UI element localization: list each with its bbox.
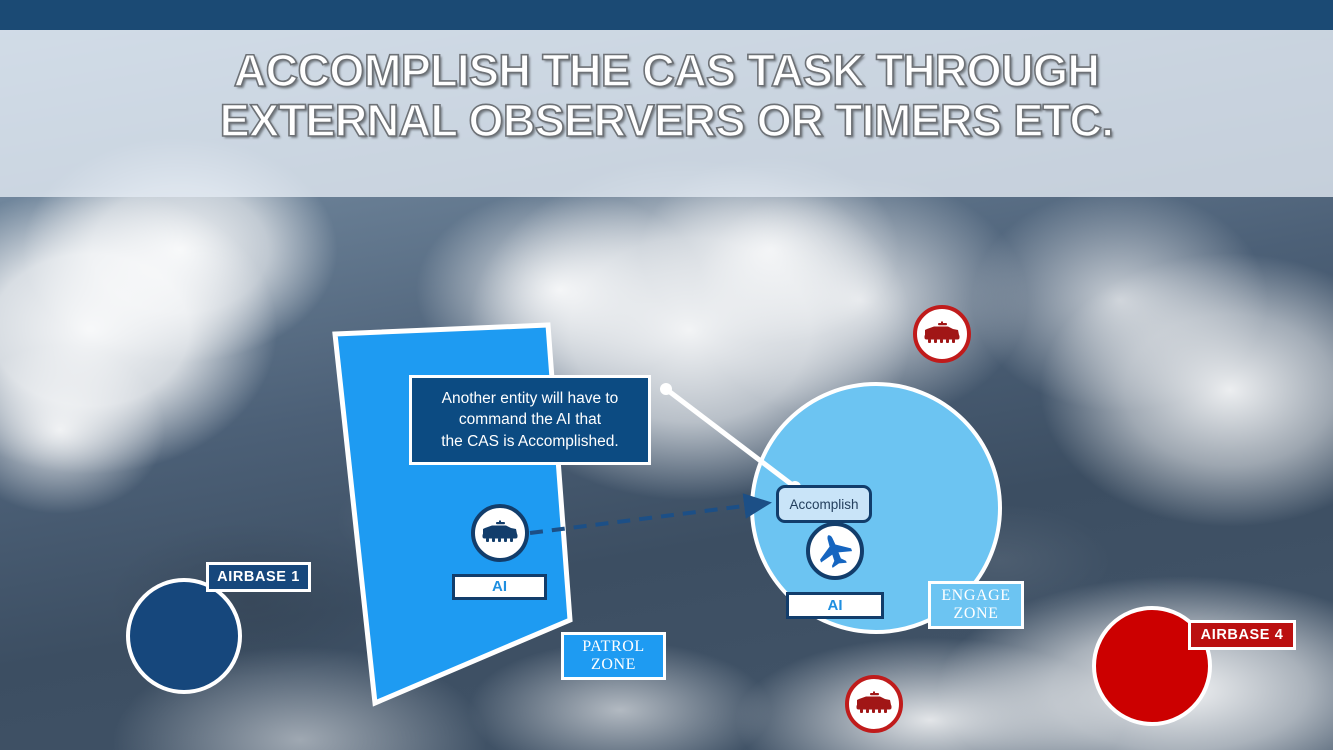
airbase-1-marker[interactable] xyxy=(126,578,242,694)
hostile-unit-2-marker[interactable] xyxy=(845,675,903,733)
ai-air-unit-marker[interactable] xyxy=(806,522,864,580)
ai-ground-unit-marker[interactable] xyxy=(471,504,529,562)
accomplish-badge[interactable]: Accomplish xyxy=(776,485,872,523)
patrol-zone-label: PATROL ZONE xyxy=(561,632,666,680)
callout-box: Another entity will have to command the … xyxy=(409,375,651,465)
ai-ground-unit-label: AI xyxy=(452,574,547,600)
top-accent-bar xyxy=(0,0,1333,30)
armored-vehicle-icon xyxy=(480,520,520,546)
ai-air-unit-label: AI xyxy=(786,592,884,619)
jet-aircraft-icon xyxy=(815,533,855,569)
engage-zone-label: ENGAGE ZONE xyxy=(928,581,1024,629)
airbase-4-label: AIRBASE 4 xyxy=(1188,620,1296,650)
slide-title: ACCOMPLISH THE CAS TASK THROUGH EXTERNAL… xyxy=(0,46,1333,147)
hostile-unit-1-marker[interactable] xyxy=(913,305,971,363)
armored-vehicle-icon xyxy=(922,321,962,347)
airbase-1-label: AIRBASE 1 xyxy=(206,562,311,592)
armored-vehicle-icon xyxy=(854,691,894,717)
slide-canvas: ACCOMPLISH THE CAS TASK THROUGH EXTERNAL… xyxy=(0,0,1333,750)
